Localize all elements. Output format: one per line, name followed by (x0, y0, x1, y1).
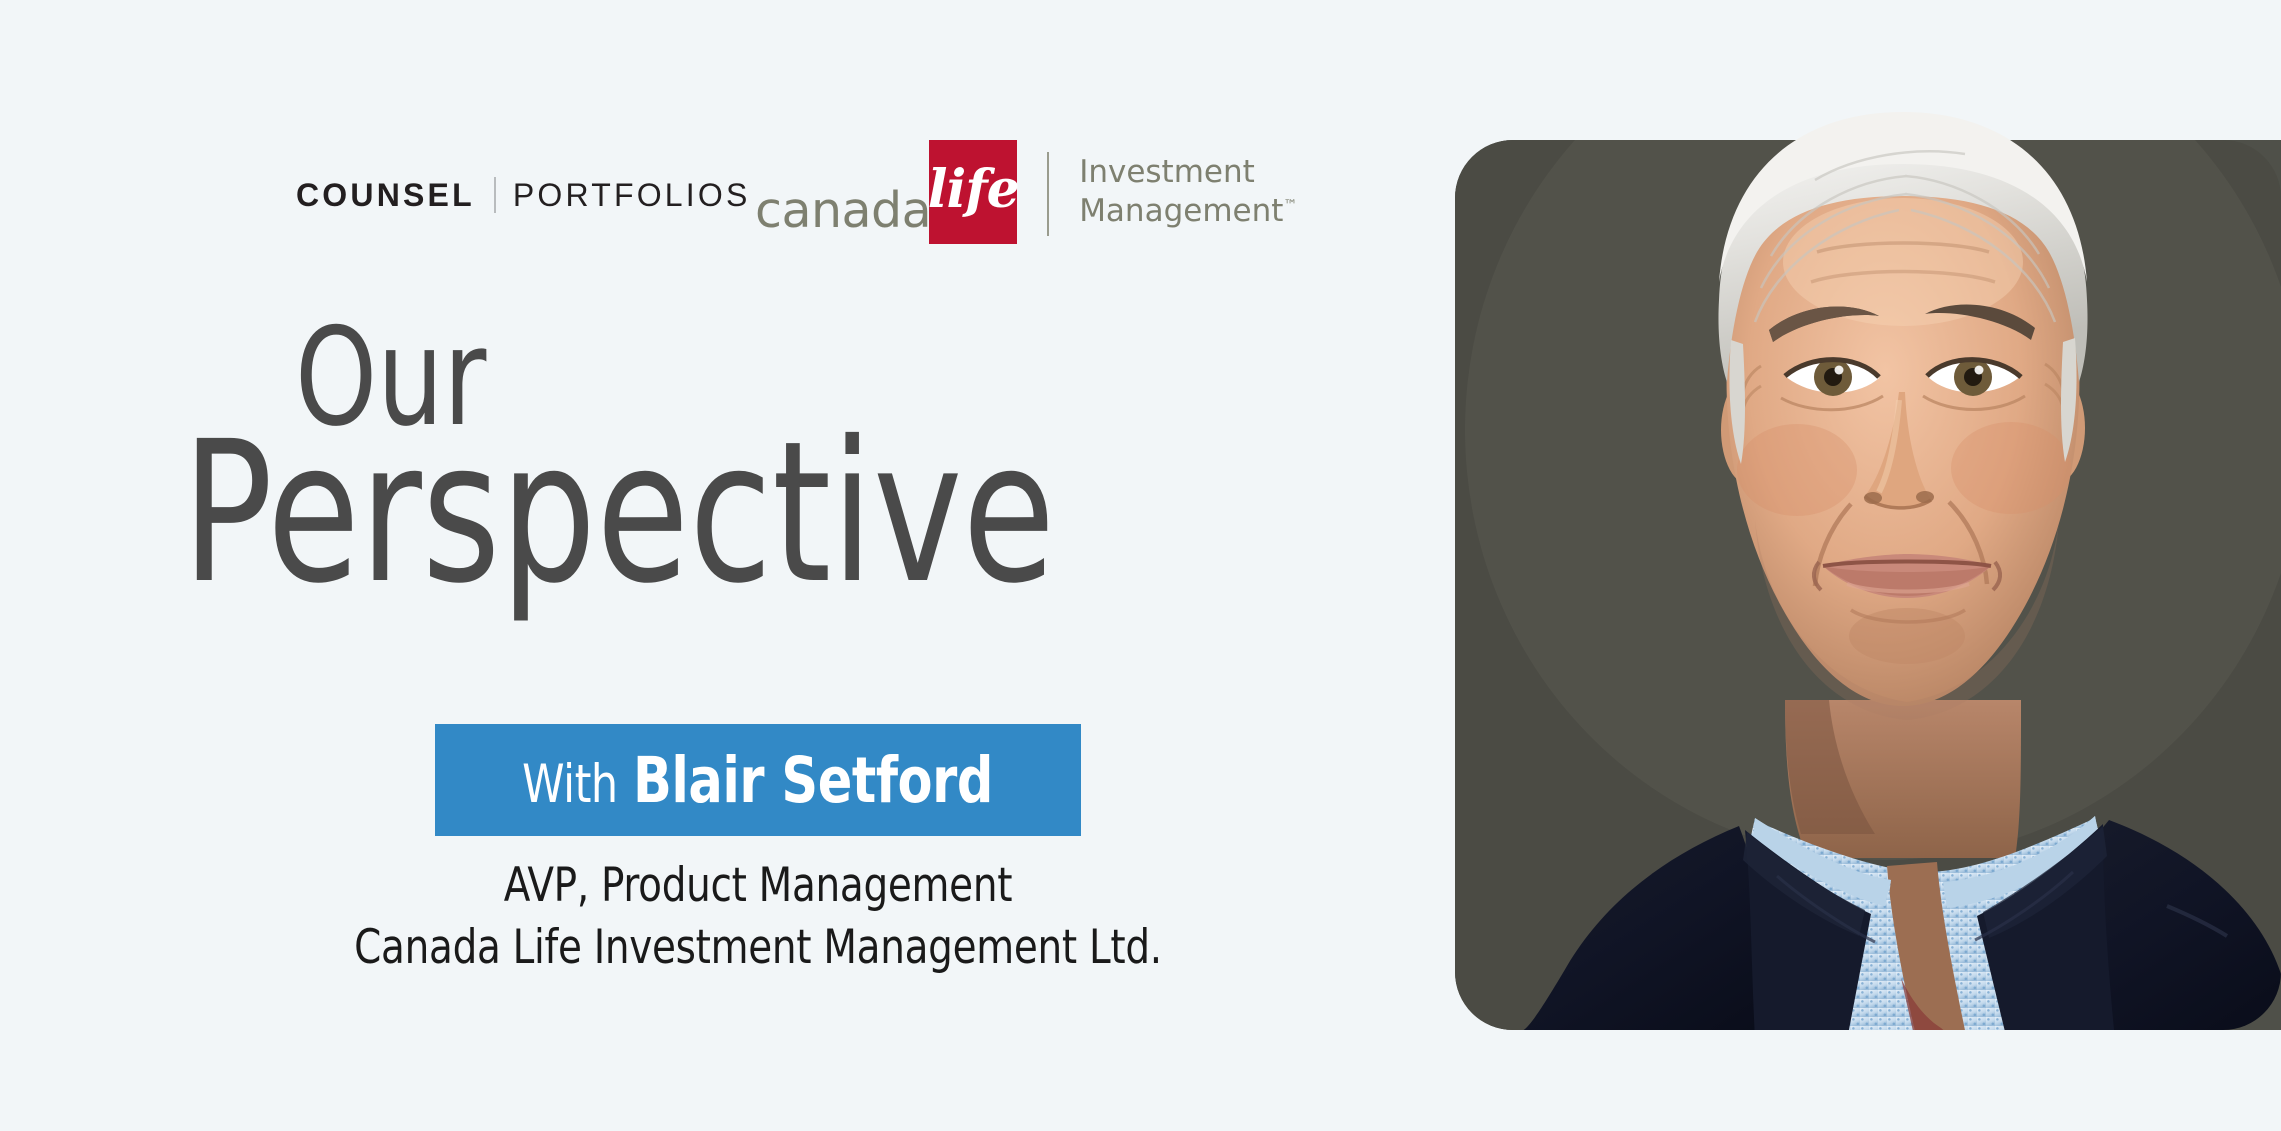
page-title-line-2: Perspective (182, 415, 1055, 610)
investment-management-descriptor: Investment Management™ (1079, 153, 1297, 231)
speaker-name-banner: With Blair Setford (435, 724, 1081, 836)
portrait-card-background (1455, 140, 2281, 1030)
counsel-divider (494, 177, 496, 213)
speaker-job-title: AVP, Product Management (61, 855, 1456, 917)
canada-life-divider (1047, 152, 1049, 236)
trademark-icon: ™ (1283, 198, 1297, 214)
portfolios-wordmark: PORTFOLIOS (513, 179, 751, 211)
speaker-with-label: With (523, 758, 619, 811)
speaker-name-banner-content: With Blair Setford (523, 749, 994, 812)
hero-banner: COUNSEL PORTFOLIOS canada life Investmen… (0, 0, 2281, 1131)
canada-life-investment-management-logo: canada life Investment Management™ (755, 132, 1297, 252)
speaker-credentials: AVP, Product Management Canada Life Inve… (0, 855, 1516, 979)
speaker-company: Canada Life Investment Management Ltd. (61, 917, 1456, 979)
descriptor-line-2: Management (1079, 193, 1283, 229)
counsel-wordmark: COUNSEL (296, 179, 475, 211)
counsel-logo-lockup: COUNSEL PORTFOLIOS (296, 175, 751, 215)
canada-wordmark: canada (755, 186, 931, 235)
life-wordmark: life (928, 164, 1019, 216)
canada-life-red-box: life (929, 140, 1017, 244)
speaker-name: Blair Setford (633, 749, 993, 812)
descriptor-line-1: Investment (1079, 154, 1255, 190)
counsel-portfolios-logo: COUNSEL PORTFOLIOS (296, 160, 751, 230)
